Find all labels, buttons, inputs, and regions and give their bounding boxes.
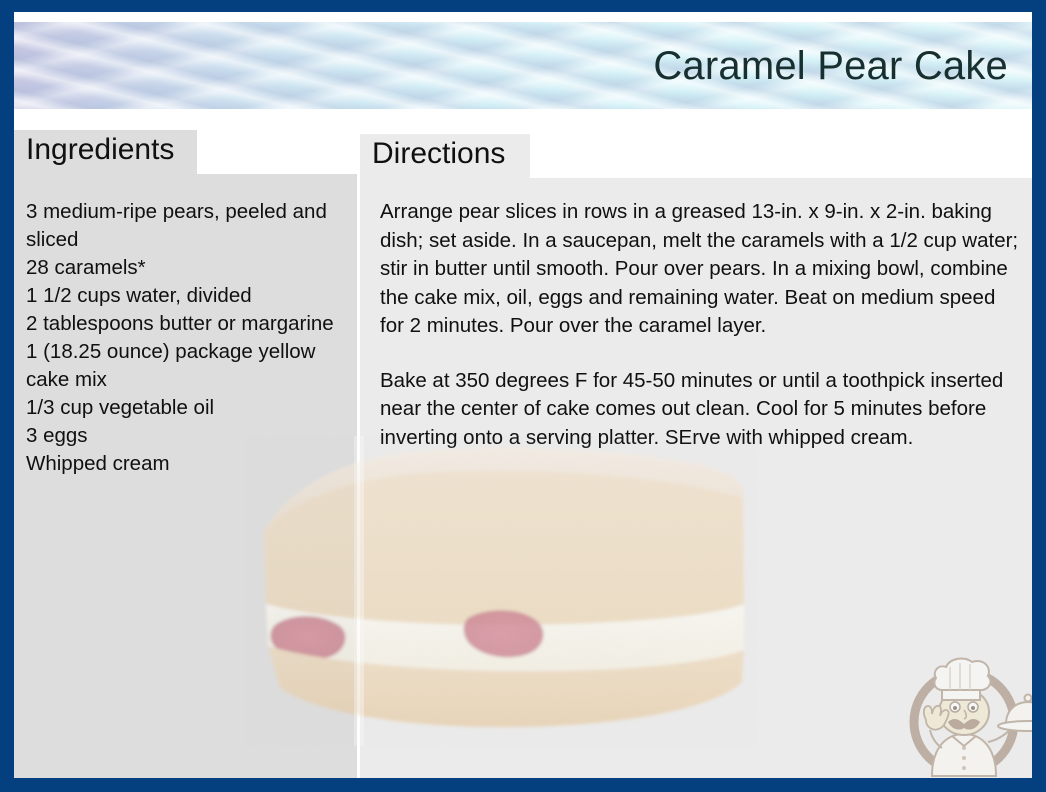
header-banner: Caramel Pear Cake xyxy=(14,22,1032,109)
ingredients-list: 3 medium-ripe pears, peeled and sliced 2… xyxy=(26,198,349,478)
list-item: Whipped cream xyxy=(26,450,349,478)
ingredients-panel: 3 medium-ripe pears, peeled and sliced 2… xyxy=(14,174,357,778)
list-item: 3 medium-ripe pears, peeled and sliced xyxy=(26,198,349,254)
directions-paragraph: Arrange pear slices in rows in a greased… xyxy=(380,198,1024,341)
list-item: 2 tablespoons butter or margarine xyxy=(26,310,349,338)
list-item: 3 eggs xyxy=(26,422,349,450)
directions-text: Arrange pear slices in rows in a greased… xyxy=(380,198,1024,452)
directions-paragraph: Bake at 350 degrees F for 45-50 minutes … xyxy=(380,367,1024,453)
page-title: Caramel Pear Cake xyxy=(653,45,1008,87)
list-item: 1 (18.25 ounce) package yellow cake mix xyxy=(26,338,349,394)
list-item: 1/3 cup vegetable oil xyxy=(26,394,349,422)
recipe-page: Caramel Pear Cake Ingredients 3 medium-r… xyxy=(14,12,1032,778)
ingredients-heading-tab: Ingredients xyxy=(14,130,197,174)
directions-heading: Directions xyxy=(360,134,530,174)
directions-heading-tab: Directions xyxy=(360,134,530,178)
directions-panel: Arrange pear slices in rows in a greased… xyxy=(360,178,1032,778)
recipe-card: Caramel Pear Cake Ingredients 3 medium-r… xyxy=(0,0,1046,792)
ingredients-heading: Ingredients xyxy=(14,130,197,170)
list-item: 1 1/2 cups water, divided xyxy=(26,282,349,310)
list-item: 28 caramels* xyxy=(26,254,349,282)
